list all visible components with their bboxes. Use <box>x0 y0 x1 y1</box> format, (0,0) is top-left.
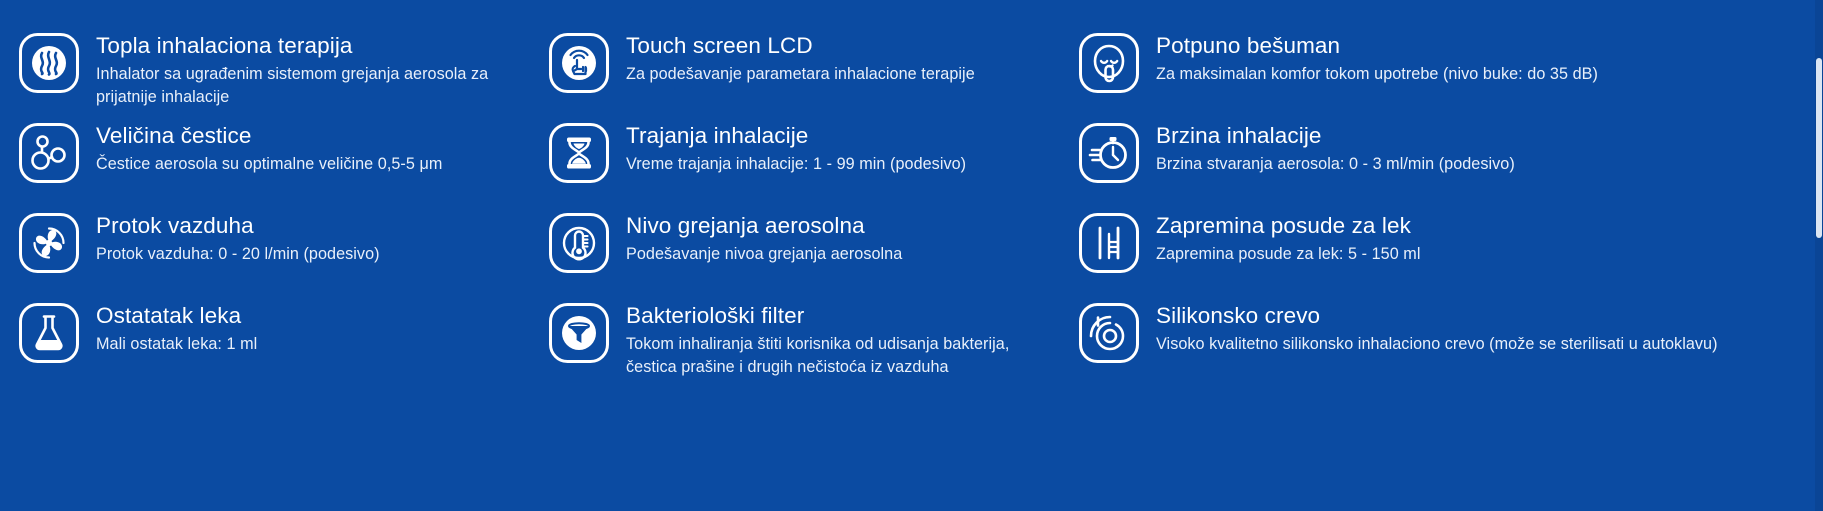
feature-description: Podešavanje nivoa grejanja aerosolna <box>626 243 1052 266</box>
feature-item-zapremina-posude-za-lek: Zapremina posude za lek Zapremina posude… <box>1078 210 1823 300</box>
features-grid: Topla inhalaciona terapija Inhalator sa … <box>0 30 1823 390</box>
thermometer-icon <box>548 212 610 274</box>
feature-title: Topla inhalaciona terapija <box>96 33 353 58</box>
feature-title: Nivo grejanja aerosolna <box>626 213 865 238</box>
feature-text: Touch screen LCD Za podešavanje parameta… <box>626 30 1052 86</box>
feature-description: Protok vazduha: 0 - 20 l/min (podesivo) <box>96 243 522 266</box>
feature-text: Bakteriološki filter Tokom inhaliranja š… <box>626 300 1052 379</box>
feature-text: Zapremina posude za lek Zapremina posude… <box>1156 210 1815 266</box>
feature-description: Brzina stvaranja aerosola: 0 - 3 ml/min … <box>1156 153 1823 176</box>
feature-text: Ostatatak leka Mali ostatak leka: 1 ml <box>96 300 522 356</box>
feature-title: Brzina inhalacije <box>1156 123 1322 148</box>
feature-title: Potpuno bešuman <box>1156 33 1340 58</box>
heat-waves-icon <box>18 32 80 94</box>
feature-text: Silikonsko crevo Visoko kvalitetno silik… <box>1156 300 1815 356</box>
feature-item-potpuno-besuman: Potpuno bešuman Za maksimalan komfor tok… <box>1078 30 1823 120</box>
coiled-hose-icon <box>1078 302 1140 364</box>
feature-item-touch-screen-lcd: Touch screen LCD Za podešavanje parameta… <box>548 30 1078 120</box>
feature-title: Veličina čestice <box>96 123 251 148</box>
feature-title: Protok vazduha <box>96 213 254 238</box>
feature-text: Topla inhalaciona terapija Inhalator sa … <box>96 30 522 109</box>
feature-title: Zapremina posude za lek <box>1156 213 1411 238</box>
hourglass-icon <box>548 122 610 184</box>
feature-text: Veličina čestice Čestice aerosola su opt… <box>96 120 522 176</box>
feature-description: Zapremina posude za lek: 5 - 150 ml <box>1156 243 1823 266</box>
feature-item-velicina-cestice: Veličina čestice Čestice aerosola su opt… <box>18 120 548 210</box>
feature-item-protok-vazduha: Protok vazduha Protok vazduha: 0 - 20 l/… <box>18 210 548 300</box>
feature-description: Visoko kvalitetno silikonsko inhalaciono… <box>1156 333 1823 356</box>
feature-title: Trajanja inhalacije <box>626 123 808 148</box>
feature-text: Potpuno bešuman Za maksimalan komfor tok… <box>1156 30 1815 86</box>
measuring-container-icon <box>1078 212 1140 274</box>
feature-title: Ostatatak leka <box>96 303 241 328</box>
fan-airflow-icon <box>18 212 80 274</box>
feature-description: Čestice aerosola su optimalne veličine 0… <box>96 153 522 176</box>
stopwatch-speed-icon <box>1078 122 1140 184</box>
feature-text: Nivo grejanja aerosolna Podešavanje nivo… <box>626 210 1052 266</box>
touch-screen-icon <box>548 32 610 94</box>
feature-description: Tokom inhaliranja štiti korisnika od udi… <box>626 333 1052 379</box>
feature-description: Za podešavanje parametara inhalacione te… <box>626 63 1052 86</box>
feature-item-silikonsko-crevo: Silikonsko crevo Visoko kvalitetno silik… <box>1078 300 1823 390</box>
feature-item-brzina-inhalacije: Brzina inhalacije Brzina stvaranja aeros… <box>1078 120 1823 210</box>
feature-description: Za maksimalan komfor tokom upotrebe (niv… <box>1156 63 1823 86</box>
feature-title: Bakteriološki filter <box>626 303 804 328</box>
page-scrollbar-thumb[interactable] <box>1816 58 1822 238</box>
feature-item-trajanja-inhalacije: Trajanja inhalacije Vreme trajanja inhal… <box>548 120 1078 210</box>
page-scrollbar[interactable] <box>1815 0 1823 511</box>
feature-item-bakterioloski-filter: Bakteriološki filter Tokom inhaliranja š… <box>548 300 1078 390</box>
feature-item-nivo-grejanja-aerosolna: Nivo grejanja aerosolna Podešavanje nivo… <box>548 210 1078 300</box>
feature-title: Silikonsko crevo <box>1156 303 1320 328</box>
particles-molecule-icon <box>18 122 80 184</box>
feature-item-topla-inhalaciona-terapija: Topla inhalaciona terapija Inhalator sa … <box>18 30 548 120</box>
feature-description: Vreme trajanja inhalacije: 1 - 99 min (p… <box>626 153 1052 176</box>
flask-icon <box>18 302 80 364</box>
filter-funnel-icon <box>548 302 610 364</box>
feature-text: Brzina inhalacije Brzina stvaranja aeros… <box>1156 120 1815 176</box>
feature-item-ostatatak-leka: Ostatatak leka Mali ostatak leka: 1 ml <box>18 300 548 390</box>
feature-description: Inhalator sa ugrađenim sistemom grejanja… <box>96 63 522 109</box>
feature-title: Touch screen LCD <box>626 33 813 58</box>
feature-description: Mali ostatak leka: 1 ml <box>96 333 522 356</box>
silent-face-icon <box>1078 32 1140 94</box>
features-panel: Topla inhalaciona terapija Inhalator sa … <box>0 0 1823 511</box>
feature-text: Trajanja inhalacije Vreme trajanja inhal… <box>626 120 1052 176</box>
feature-text: Protok vazduha Protok vazduha: 0 - 20 l/… <box>96 210 522 266</box>
